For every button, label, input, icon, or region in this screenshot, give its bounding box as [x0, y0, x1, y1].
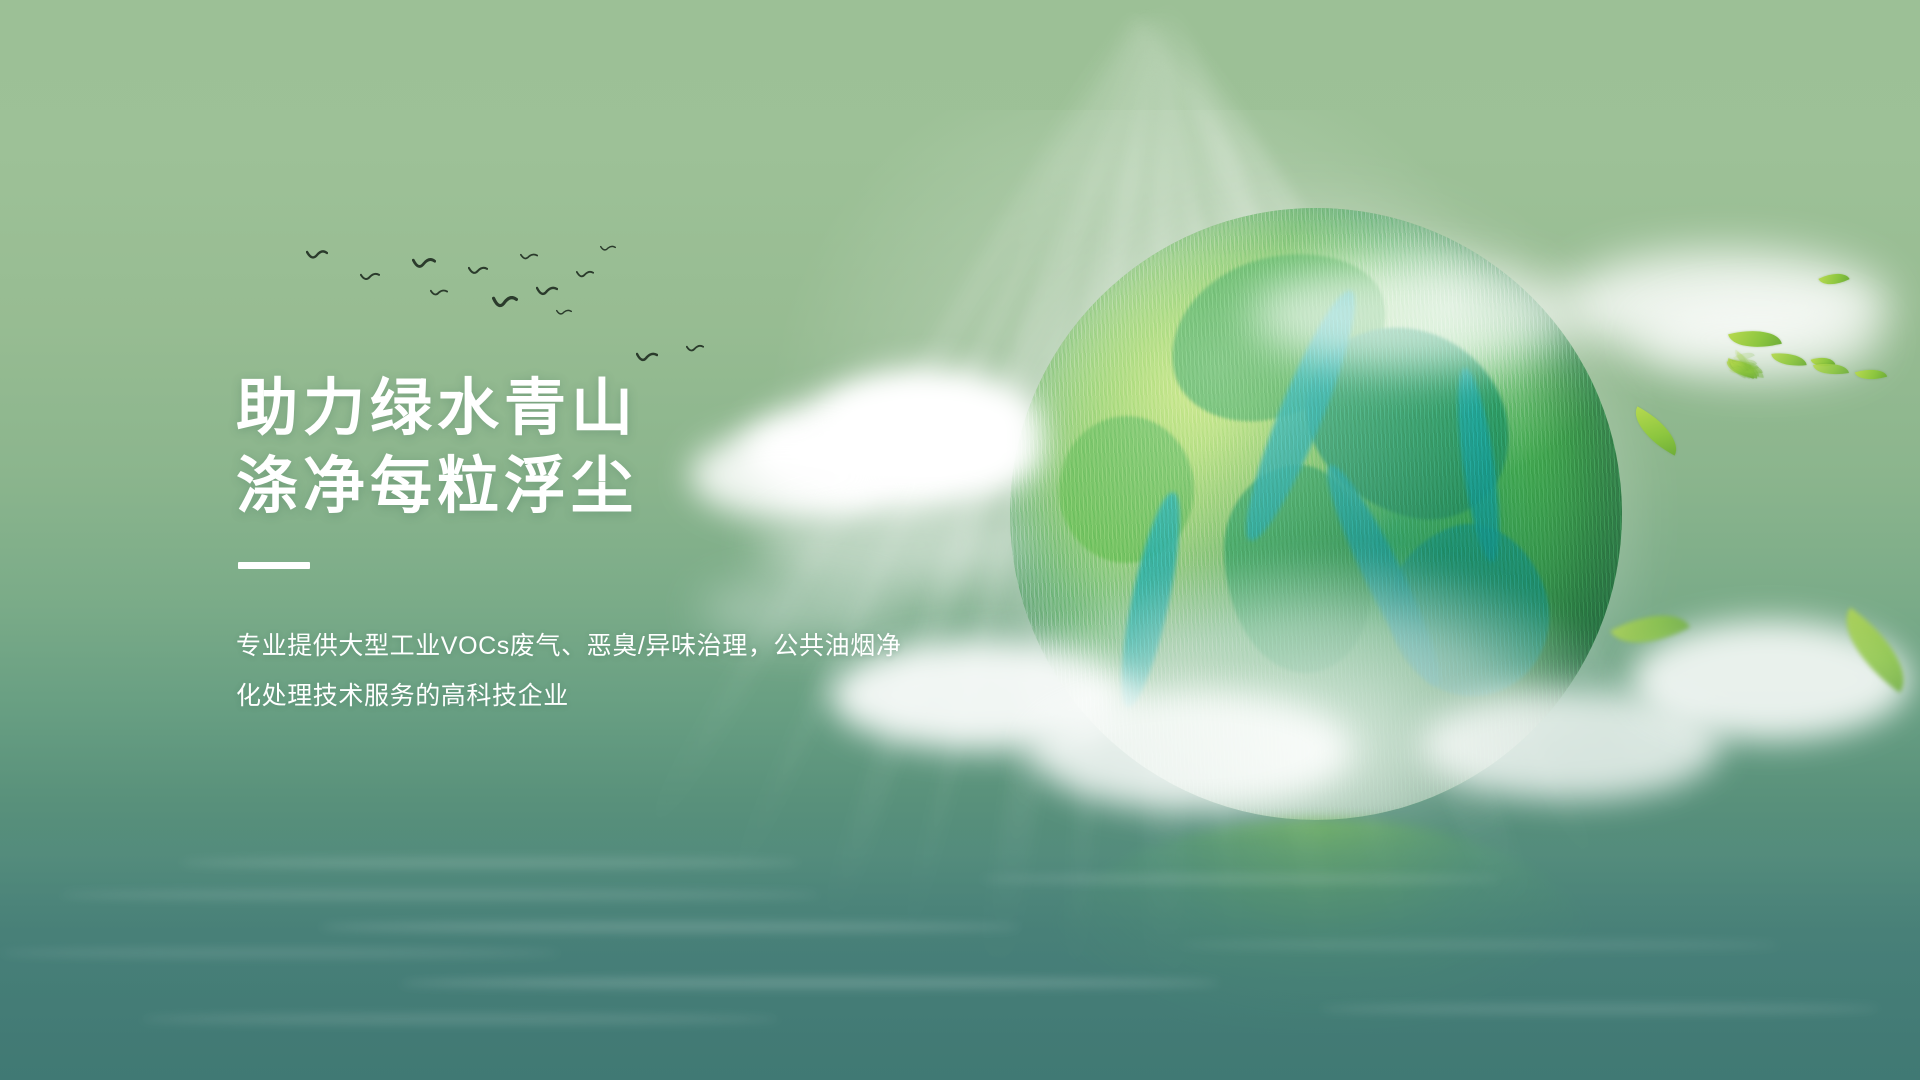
leaf-icon: [1625, 406, 1687, 455]
bird-icon: [468, 266, 488, 279]
water-surface: [0, 828, 1920, 1080]
bird-icon: [520, 252, 538, 264]
cloud-cluster: [1250, 260, 1580, 370]
bird-icon: [430, 288, 448, 300]
page-title-line-2: 涤净每粒浮尘: [236, 448, 996, 526]
hero-description-line-2: 化处理技术服务的高科技企业: [236, 671, 916, 721]
bird-icon: [360, 272, 380, 285]
hero-description: 专业提供大型工业VOCs废气、恶臭/异味治理，公共油烟净 化处理技术服务的高科技…: [236, 621, 916, 721]
bird-icon: [686, 344, 704, 356]
page-title-line-1: 助力绿水青山: [236, 370, 996, 448]
bird-icon: [412, 258, 436, 273]
bird-icon: [306, 250, 328, 264]
bird-icon: [536, 286, 558, 300]
bird-icon: [556, 308, 572, 319]
bird-icon: [576, 270, 594, 282]
cloud-cluster: [1030, 690, 1350, 810]
hero-banner: 助力绿水青山 涤净每粒浮尘 专业提供大型工业VOCs废气、恶臭/异味治理，公共油…: [0, 0, 1920, 1080]
leaf-icon: [1855, 364, 1887, 385]
bird-icon: [636, 352, 658, 366]
bird-icon: [492, 296, 518, 312]
hero-description-line-1: 专业提供大型工业VOCs废气、恶臭/异味治理，公共油烟净: [236, 621, 916, 671]
hero-text-block: 助力绿水青山 涤净每粒浮尘 专业提供大型工业VOCs废气、恶臭/异味治理，公共油…: [236, 370, 996, 721]
bird-icon: [600, 244, 616, 255]
title-divider: [238, 562, 310, 569]
